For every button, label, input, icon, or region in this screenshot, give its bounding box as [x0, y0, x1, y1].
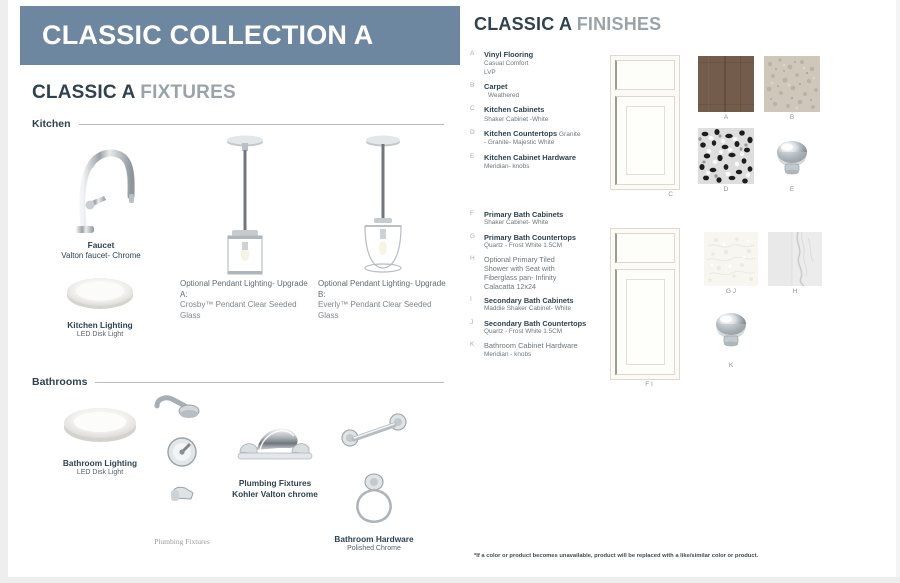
bottom-gutter: [0, 577, 900, 583]
swatch-label-f-i: F I: [629, 381, 669, 388]
swatch-label-g-j: G J: [704, 288, 758, 295]
section-kitchen: Kitchen: [32, 118, 444, 130]
product-kitchen-lighting: Kitchen Lighting LED Disk Light: [50, 272, 150, 340]
faucet-sub: Valton faucet- Chrome: [46, 251, 156, 261]
legend-letter-b: B: [470, 82, 474, 89]
legend-item-k: K Bathroom Cabinet Hardware Meridian - k…: [470, 341, 620, 359]
section-bathrooms-label: Bathrooms: [32, 376, 87, 388]
legend-letter-h: H: [470, 255, 475, 262]
product-bathroom-lighting: Bathroom Lighting LED Disk Light: [50, 400, 150, 478]
collection-title: CLASSIC COLLECTION A: [20, 20, 374, 51]
left-gutter: [0, 0, 8, 583]
swatch-bath-cabinet-door: F I: [610, 228, 680, 380]
legend-letter-a: A: [470, 50, 474, 57]
swatch-label-b: B: [764, 114, 820, 121]
legend-sub-g: Quartz - Frost White 1.5CM: [484, 242, 620, 250]
legend-item-d: D Kitchen Countertops Granite - Granite-…: [470, 129, 620, 148]
finishes-legend-group-2: F Primary Bath Cabinets Shaker Cabinet- …: [470, 210, 620, 364]
bath-cabinet-drawer-front: [615, 233, 675, 263]
bathroom-hardware-sub: Polished Chrome: [328, 545, 420, 554]
pendant-b-image: [318, 130, 448, 275]
legend-sub-a: Casual Comfort LVP: [484, 60, 620, 77]
faucet-image: [46, 130, 156, 240]
swatch-kitchen-countertop-granite: D: [698, 128, 754, 184]
kitchen-lighting-title: Kitchen Lighting: [50, 320, 150, 331]
section-bathrooms-rule: [95, 382, 444, 383]
legend-sub-k: Meridian - knobs: [484, 351, 620, 359]
pendant-b-title: Optional Pendant Lighting- Upgrade B:: [318, 279, 448, 300]
fixtures-column: CLASSIC COLLECTION A CLASSIC A FIXTURES …: [8, 0, 460, 577]
finishes-heading-light: FINISHES: [577, 14, 662, 34]
bathroom-lighting-title: Bathroom Lighting: [50, 458, 150, 469]
legend-letter-j: J: [470, 319, 473, 326]
swatch-carpet: B: [764, 56, 820, 112]
legend-letter-c: C: [470, 105, 475, 112]
pendant-a-image: [180, 130, 310, 275]
kitchen-lighting-image: [50, 272, 150, 314]
legend-sub-b: Weathered: [484, 92, 620, 100]
product-plumbing-fixtures-shower: Plumbing Fixtures: [141, 390, 223, 547]
legend-sub-f: Shaker Cabinet- White: [484, 219, 620, 227]
legend-letter-d: D: [470, 129, 475, 136]
legend-letter-k: K: [470, 341, 474, 348]
pendant-a-sub: Crosby™ Pendant Clear Seeded Glass: [180, 300, 310, 321]
legend-sub-c: Shaker Cabinet -White: [484, 116, 620, 124]
bathroom-hardware-title: Bathroom Hardware: [328, 534, 420, 545]
disclaimer-footnote: *If a color or product becomes unavailab…: [474, 553, 894, 559]
fixtures-heading-dark: CLASSIC A: [32, 82, 135, 103]
legend-title-i: Secondary Bath Cabinets: [484, 296, 620, 305]
swatch-label-d: D: [698, 186, 754, 193]
section-kitchen-label: Kitchen: [32, 118, 71, 130]
swatch-calacatta-tile: H: [768, 232, 822, 286]
plumbing-faucet-sub: Kohler Valton chrome: [230, 489, 320, 500]
kitchen-knob-image: [764, 128, 820, 184]
legend-sub-i: Maddie Shaker Cabinet- White: [484, 305, 620, 313]
faucet-title: Faucet: [46, 240, 156, 251]
legend-item-c: C Kitchen Cabinets Shaker Cabinet -White: [470, 105, 620, 124]
swatch-label-c: C: [611, 191, 673, 198]
bath-cabinet-door-panel: [615, 269, 675, 375]
legend-title-j: Secondary Bath Countertops: [484, 319, 620, 328]
pendant-a-title: Optional Pendant Lighting- Upgrade A:: [180, 279, 310, 300]
finishes-legend-group-1: A Vinyl Flooring Casual Comfort LVP B Ca…: [470, 50, 620, 176]
bathroom-lighting-image: [50, 400, 150, 448]
finishes-heading-dark: CLASSIC A: [474, 14, 571, 34]
finishes-column: CLASSIC A FINISHES A Vinyl Flooring Casu…: [466, 0, 896, 577]
swatch-bath-cabinet-knob: K: [704, 300, 758, 356]
swatch-quartz-frost-white: G J: [704, 232, 758, 286]
legend-title-a: Vinyl Flooring: [484, 50, 620, 60]
swatch-label-k: K: [704, 362, 758, 369]
product-pendant-upgrade-b: Optional Pendant Lighting- Upgrade B: Ev…: [318, 130, 448, 321]
legend-title-h: Optional Primary Tiled Shower with Seat …: [484, 255, 576, 291]
plumbing-faucet-title: Plumbing Fixtures: [230, 478, 320, 489]
product-plumbing-fixtures-faucet: Plumbing Fixtures Kohler Valton chrome: [230, 410, 320, 499]
cabinet-door-panel: [615, 96, 675, 185]
legend-item-i: I Secondary Bath Cabinets Maddie Shaker …: [470, 296, 620, 314]
bathroom-lighting-sub: LED Disk Light: [50, 469, 150, 478]
legend-letter-i: I: [470, 296, 472, 303]
legend-title-f: Primary Bath Cabinets: [484, 210, 620, 219]
kitchen-lighting-sub: LED Disk Light: [50, 331, 150, 340]
fixtures-heading-light: FIXTURES: [140, 82, 236, 103]
finishes-heading: CLASSIC A FINISHES: [474, 14, 661, 35]
legend-sub-d: - Granite- Majestic White: [484, 139, 620, 147]
legend-title-c: Kitchen Cabinets: [484, 105, 620, 115]
legend-title-k: Bathroom Cabinet Hardware: [484, 341, 620, 350]
swatch-kitchen-cabinet-door: C: [610, 55, 680, 190]
legend-sub-e: Meridian- knobs: [484, 163, 620, 171]
legend-title-g: Primary Bath Countertops: [484, 233, 620, 242]
legend-title-d: Kitchen Countertops Granite: [484, 129, 620, 139]
plumbing-faucet-image: [230, 410, 320, 468]
swatch-kitchen-cabinet-knob: E: [764, 128, 820, 184]
legend-sub-j: Quartz - Frost White 1.5CM: [484, 328, 620, 336]
legend-title-e: Kitchen Cabinet Hardware: [484, 153, 620, 163]
legend-title-b: Carpet: [484, 82, 620, 92]
bath-knob-image: [704, 300, 758, 356]
pendant-b-sub: Everly™ Pendant Clear Seeded Glass: [318, 300, 448, 321]
legend-item-j: J Secondary Bath Countertops Quartz - Fr…: [470, 319, 620, 337]
right-gutter: [896, 0, 900, 583]
legend-item-a: A Vinyl Flooring Casual Comfort LVP: [470, 50, 620, 77]
legend-item-f: F Primary Bath Cabinets Shaker Cabinet- …: [470, 210, 620, 228]
plumbing-shower-image: [141, 390, 223, 515]
legend-letter-g: G: [470, 233, 475, 240]
swatch-label-e: E: [764, 186, 820, 193]
legend-item-h: H Optional Primary Tiled Shower with Sea…: [470, 255, 620, 291]
swatch-label-h: H: [768, 288, 822, 295]
plumbing-shower-title: Plumbing Fixtures: [141, 537, 223, 547]
legend-item-b: B Carpet Weathered: [470, 82, 620, 101]
section-kitchen-rule: [79, 124, 444, 125]
product-pendant-upgrade-a: Optional Pendant Lighting- Upgrade A: Cr…: [180, 130, 310, 321]
product-faucet: Faucet Valton faucet- Chrome: [46, 130, 156, 261]
bathroom-hardware-image: [328, 400, 420, 530]
collection-banner: CLASSIC COLLECTION A: [20, 6, 460, 65]
fixtures-heading: CLASSIC A FIXTURES: [32, 82, 236, 104]
legend-item-g: G Primary Bath Countertops Quartz - Fros…: [470, 233, 620, 251]
swatch-label-a: A: [698, 114, 754, 121]
legend-letter-e: E: [470, 153, 474, 160]
product-bathroom-hardware: Bathroom Hardware Polished Chrome: [328, 400, 420, 554]
swatch-vinyl-flooring: A: [698, 56, 754, 112]
legend-letter-f: F: [470, 210, 474, 217]
design-selections-page: CLASSIC COLLECTION A CLASSIC A FIXTURES …: [0, 0, 900, 583]
cabinet-drawer-front: [615, 60, 675, 90]
legend-item-e: E Kitchen Cabinet Hardware Meridian- kno…: [470, 153, 620, 172]
section-bathrooms: Bathrooms: [32, 376, 444, 388]
